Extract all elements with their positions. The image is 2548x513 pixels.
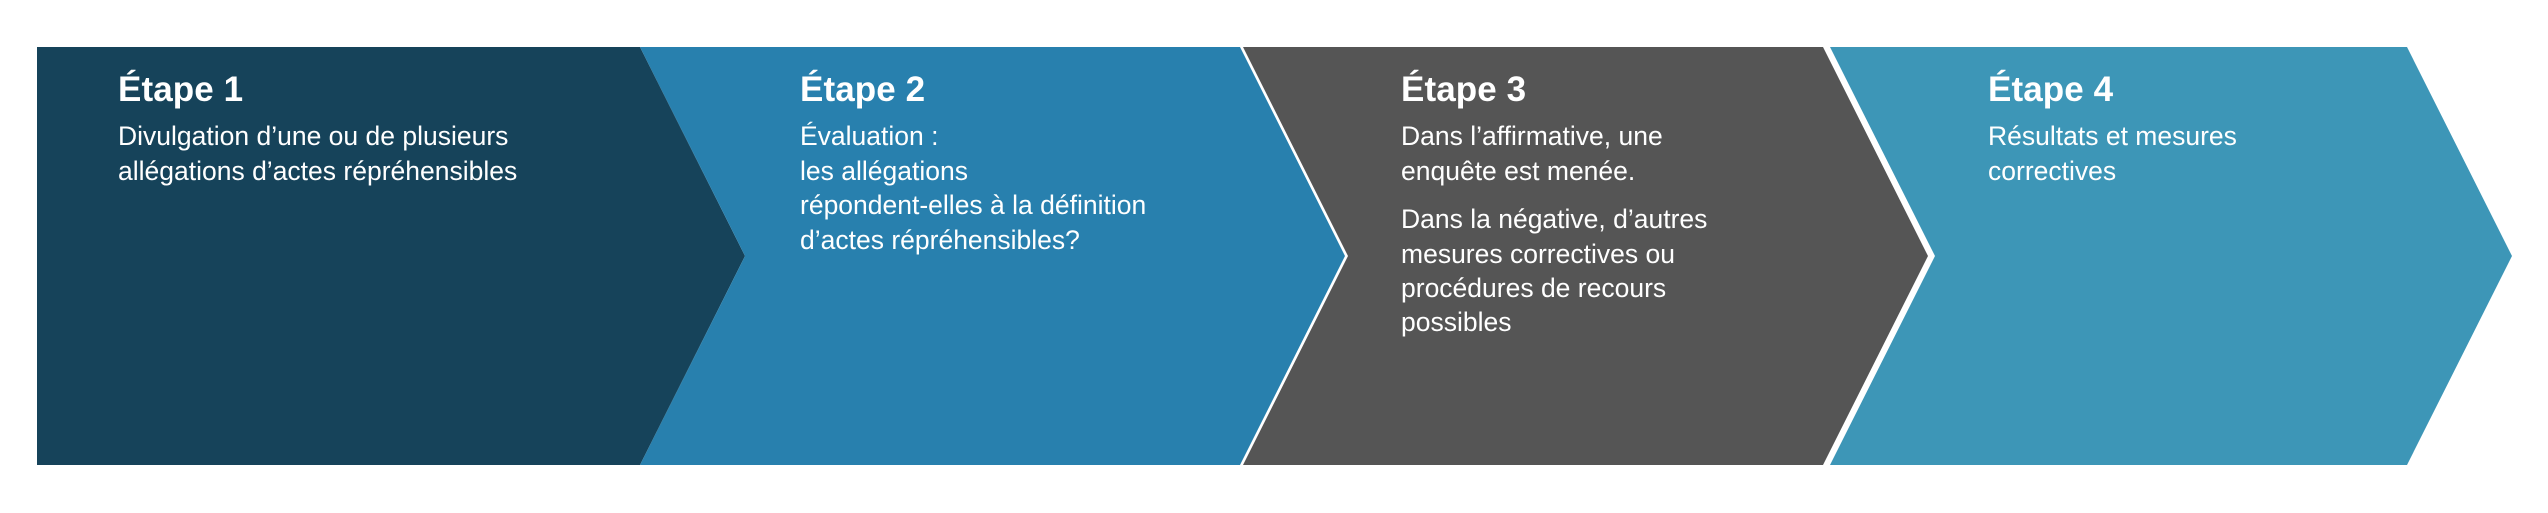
process-step-4-content: Étape 4 Résultats et mesures correctives <box>1988 47 2458 465</box>
process-step-2: Étape 2 Évaluation : les allégations rép… <box>640 47 1345 465</box>
process-step-3-line: Dans l’affirmative, une <box>1401 119 1871 153</box>
process-step-3: Étape 3 Dans l’affirmative, une enquête … <box>1243 47 1928 465</box>
process-step-1-paragraph: Divulgation d’une ou de plusieurs alléga… <box>118 119 678 188</box>
process-step-1-title: Étape 1 <box>118 69 678 110</box>
process-step-3-title: Étape 3 <box>1401 69 1871 110</box>
process-flow-diagram: Étape 1 Divulgation d’une ou de plusieur… <box>0 0 2548 513</box>
process-step-4-paragraph: Résultats et mesures correctives <box>1988 119 2458 188</box>
process-step-2-line: les allégations <box>800 154 1300 188</box>
process-step-3-paragraph: Dans la négative, d’autres mesures corre… <box>1401 202 1871 340</box>
process-step-4-title: Étape 4 <box>1988 69 2458 110</box>
process-step-1: Étape 1 Divulgation d’une ou de plusieur… <box>37 47 745 465</box>
process-step-2-line: Évaluation : <box>800 119 1300 153</box>
process-step-2-line: d’actes répréhensibles? <box>800 223 1300 257</box>
process-step-3-line: mesures correctives ou <box>1401 237 1871 271</box>
process-step-3-paragraph: Dans l’affirmative, une enquête est mené… <box>1401 119 1871 188</box>
process-step-3-line: enquête est menée. <box>1401 154 1871 188</box>
process-step-1-content: Étape 1 Divulgation d’une ou de plusieur… <box>118 47 678 465</box>
process-step-4: Étape 4 Résultats et mesures correctives <box>1830 47 2512 465</box>
process-step-3-line: possibles <box>1401 305 1871 339</box>
process-step-3-body: Dans l’affirmative, une enquête est mené… <box>1401 119 1871 340</box>
process-step-2-paragraph: Évaluation : les allégations répondent-e… <box>800 119 1300 257</box>
process-step-1-line: allégations d’actes répréhensibles <box>118 154 678 188</box>
process-step-1-body: Divulgation d’une ou de plusieurs alléga… <box>118 119 678 188</box>
process-step-3-line: Dans la négative, d’autres <box>1401 202 1871 236</box>
process-step-3-line: procédures de recours <box>1401 271 1871 305</box>
process-step-4-body: Résultats et mesures correctives <box>1988 119 2458 188</box>
process-step-4-line: correctives <box>1988 154 2458 188</box>
process-step-1-line: Divulgation d’une ou de plusieurs <box>118 119 678 153</box>
process-step-2-body: Évaluation : les allégations répondent-e… <box>800 119 1300 257</box>
process-step-3-content: Étape 3 Dans l’affirmative, une enquête … <box>1401 47 1871 465</box>
process-step-2-title: Étape 2 <box>800 69 1300 110</box>
process-step-4-line: Résultats et mesures <box>1988 119 2458 153</box>
process-step-2-line: répondent-elles à la définition <box>800 188 1300 222</box>
process-step-2-content: Étape 2 Évaluation : les allégations rép… <box>800 47 1300 465</box>
